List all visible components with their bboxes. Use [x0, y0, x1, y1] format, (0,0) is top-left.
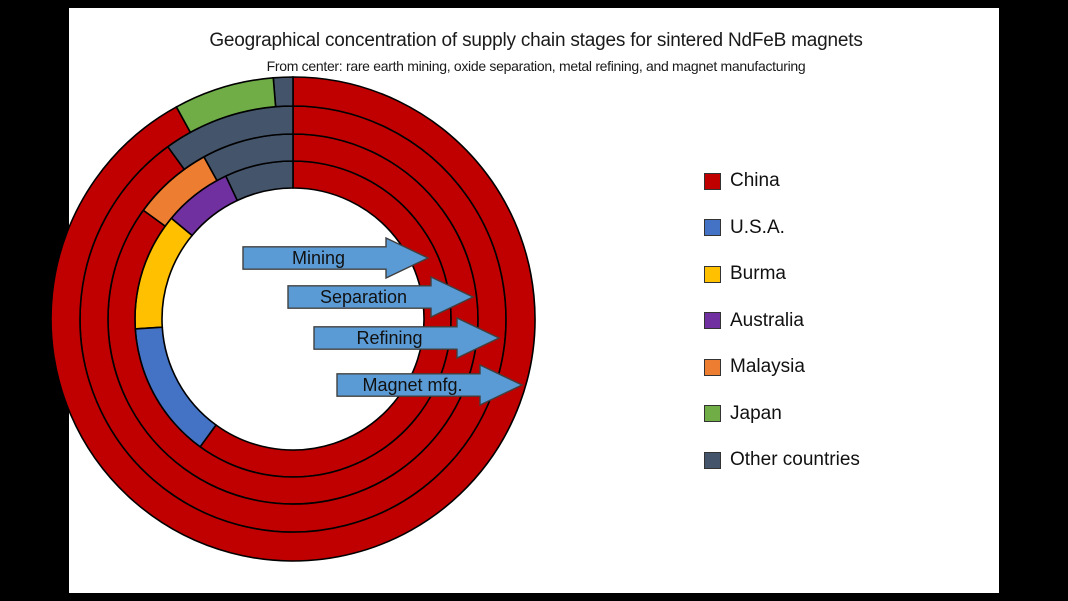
legend-item-label: Burma: [730, 263, 786, 285]
legend-item[interactable]: U.S.A.: [704, 205, 934, 252]
legend-swatch-icon: [704, 266, 721, 283]
legend-swatch-icon: [704, 173, 721, 190]
legend-item-label: Japan: [730, 403, 782, 425]
legend-item[interactable]: Other countries: [704, 437, 934, 484]
legend-item-label: Other countries: [730, 449, 860, 471]
legend-swatch-icon: [704, 312, 721, 329]
legend-item-label: U.S.A.: [730, 217, 785, 239]
donut-rings: [51, 77, 535, 561]
legend-item[interactable]: Malaysia: [704, 344, 934, 391]
arrow-label: Separation: [320, 287, 407, 307]
legend-swatch-icon: [704, 452, 721, 469]
legend-item-label: Malaysia: [730, 356, 805, 378]
donut-segment[interactable]: [273, 77, 293, 107]
arrow-label: Mining: [292, 248, 345, 268]
legend-item[interactable]: China: [704, 158, 934, 205]
arrow-label: Refining: [356, 328, 422, 348]
legend: ChinaU.S.A.BurmaAustraliaMalaysiaJapanOt…: [704, 158, 934, 484]
legend-item-label: China: [730, 170, 780, 192]
legend-item-label: Australia: [730, 310, 804, 332]
arrow-label: Magnet mfg.: [362, 375, 462, 395]
legend-item[interactable]: Australia: [704, 298, 934, 345]
legend-swatch-icon: [704, 405, 721, 422]
legend-item[interactable]: Japan: [704, 391, 934, 438]
legend-swatch-icon: [704, 219, 721, 236]
legend-swatch-icon: [704, 359, 721, 376]
legend-item[interactable]: Burma: [704, 251, 934, 298]
